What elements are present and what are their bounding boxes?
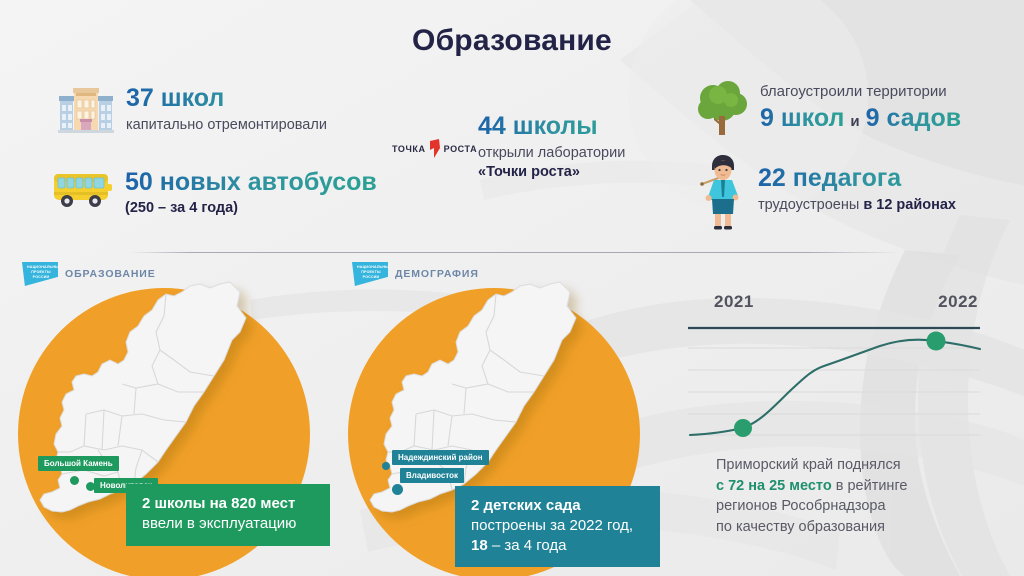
national-project-label-demography: ДЕМОГРАФИЯ <box>395 268 479 280</box>
chart-note-line1: Приморский край поднялся <box>716 455 996 476</box>
tochka-rosta-logo: ТОЧКА РОСТА <box>392 139 477 159</box>
national-project-badge-education: НАЦИОНАЛЬНЫЕ ПРОЕКТЫ РОССИИ ОБРАЗОВАНИЕ <box>22 262 156 286</box>
map-pin-dot-nadezhdinsky <box>382 462 390 470</box>
map-caption-education: 2 школы на 820 мест ввели в эксплуатацию <box>126 484 330 546</box>
chart-note-line4: по качеству образования <box>716 517 996 538</box>
stat-teachers-description-prefix: трудоустроены <box>758 197 863 213</box>
school-bus-icon <box>50 166 116 212</box>
chart-note-highlight: с 72 на 25 место <box>716 478 832 494</box>
stat-schools-repaired-value: 37 школ <box>126 84 327 112</box>
map-caption-education-line2: ввели в эксплуатацию <box>142 514 316 534</box>
chart-year-label-2022: 2022 <box>938 292 978 312</box>
ranking-chart: 2021 2022 <box>684 292 984 442</box>
page-title: Образование <box>0 24 1024 58</box>
map-caption-demography: 2 детских сада построены за 2022 год, 18… <box>455 486 660 567</box>
national-project-label-education: ОБРАЗОВАНИЕ <box>65 268 156 280</box>
stat-schools-repaired-description: капитально отремонтировали <box>126 116 327 135</box>
national-project-mark-icon: НАЦИОНАЛЬНЫЕ ПРОЕКТЫ РОССИИ <box>22 262 58 286</box>
national-project-mark-text: НАЦИОНАЛЬНЫЕ ПРОЕКТЫ РОССИИ <box>357 265 385 281</box>
national-project-badge-demography: НАЦИОНАЛЬНЫЕ ПРОЕКТЫ РОССИИ ДЕМОГРАФИЯ <box>352 262 479 286</box>
map-caption-demography-line2: построены за 2022 год, <box>471 516 646 536</box>
stat-new-buses-value: 50 новых автобусов <box>125 168 377 196</box>
tree-icon <box>694 78 750 136</box>
chart-note: Приморский край поднялся с 72 на 25 мест… <box>716 455 996 537</box>
stat-teachers-description-bold: в 12 районах <box>863 197 956 213</box>
stat-new-buses-description: (250 – за 4 года) <box>125 199 377 218</box>
stat-territories: благоустроили территории 9 школ и 9 садо… <box>694 78 961 136</box>
tochka-rosta-flame-icon <box>428 139 442 159</box>
stat-labs-opened-value: 44 школы <box>478 112 625 140</box>
chart-svg <box>684 325 984 440</box>
map-caption-demography-line3: 18 – за 4 года <box>471 536 646 556</box>
map-panel-education: НАЦИОНАЛЬНЫЕ ПРОЕКТЫ РОССИИ ОБРАЗОВАНИЕ <box>0 258 330 576</box>
stat-teachers-value: 22 педагога <box>758 164 956 192</box>
stat-territories-schools-value: 9 школ <box>760 104 844 132</box>
section-divider <box>130 252 900 253</box>
chart-marker-2021 <box>734 419 752 437</box>
school-building-icon <box>58 84 114 136</box>
stat-territories-conjunction: и <box>850 113 859 130</box>
chart-note-line3: регионов Рособрнадзора <box>716 496 996 517</box>
map-pin-dot-vladivostok <box>392 484 403 495</box>
map-caption-demography-line3-rest: – за 4 года <box>488 537 567 554</box>
map-pin-label-bolshoy-kamen: Большой Камень <box>38 456 119 471</box>
national-project-mark-icon: НАЦИОНАЛЬНЫЕ ПРОЕКТЫ РОССИИ <box>352 262 388 286</box>
stat-labs-opened-description-2: «Точки роста» <box>478 163 625 182</box>
map-panel-demography: НАЦИОНАЛЬНЫЕ ПРОЕКТЫ РОССИИ ДЕМОГРАФИЯ <box>330 258 660 576</box>
stat-labs-opened-description-1: открыли лаборатории <box>478 144 625 163</box>
stat-territories-kindergartens-value: 9 садов <box>866 104 961 132</box>
map-pin-label-vladivostok: Владивосток <box>400 468 464 483</box>
stat-new-buses: 50 новых автобусов (250 – за 4 года) <box>50 166 377 218</box>
chart-year-label-2021: 2021 <box>714 292 754 312</box>
chart-note-line2: с 72 на 25 место в рейтинге <box>716 476 996 497</box>
tochka-rosta-logo-text-right: РОСТА <box>444 144 478 154</box>
stat-teachers: 22 педагога трудоустроены в 12 районах <box>694 152 956 230</box>
map-caption-education-line1: 2 школы на 820 мест <box>142 494 316 514</box>
chart-line-series <box>690 340 980 435</box>
chart-note-line2-rest: в рейтинге <box>832 478 908 494</box>
stat-territories-description: благоустроили территории <box>760 82 961 102</box>
national-project-mark-text: НАЦИОНАЛЬНЫЕ ПРОЕКТЫ РОССИИ <box>27 265 55 281</box>
stat-labs-opened: 44 школы открыли лаборатории «Точки рост… <box>478 112 625 182</box>
map-caption-demography-line1: 2 детских сада <box>471 496 646 516</box>
map-pin-label-nadezhdinsky: Надеждинский район <box>392 450 489 465</box>
chart-marker-2022 <box>927 332 946 351</box>
map-pin-dot-bolshoy-kamen <box>70 476 79 485</box>
stat-teachers-description: трудоустроены в 12 районах <box>758 196 956 215</box>
map-caption-demography-line3-bold: 18 <box>471 537 488 554</box>
teacher-illustration <box>694 152 750 230</box>
stat-schools-repaired: 37 школ капитально отремонтировали <box>58 84 327 136</box>
tochka-rosta-logo-text-left: ТОЧКА <box>392 144 426 154</box>
chart-gridlines <box>688 348 980 435</box>
